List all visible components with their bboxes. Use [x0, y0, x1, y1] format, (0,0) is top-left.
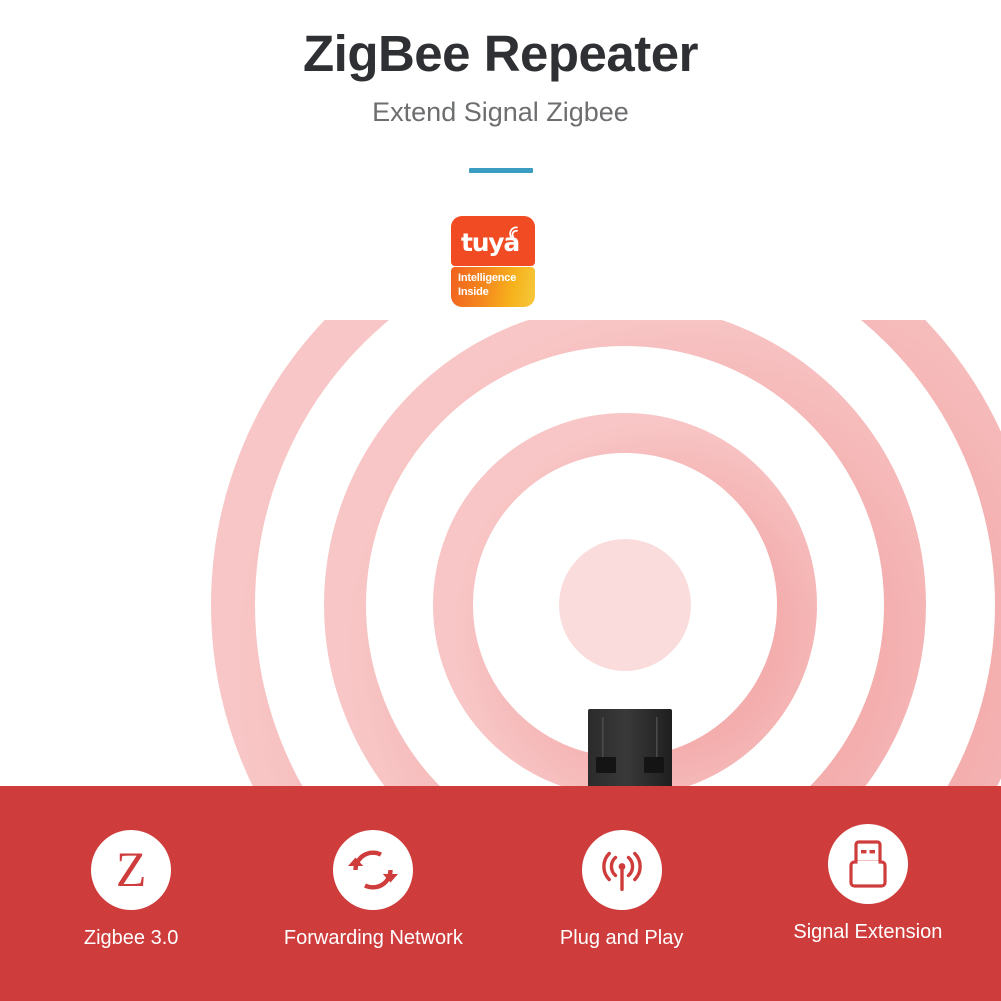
- divider-wrapper: [0, 160, 1001, 166]
- tuya-tagline-block: Intelligence Inside: [451, 267, 535, 307]
- feature-label-signal-extension: Signal Extension: [743, 920, 993, 944]
- feature-item-plug-and-play[interactable]: Plug and Play: [497, 830, 747, 950]
- zigbee-repeater-dongle-upright: [548, 705, 708, 790]
- zigbee-z-glyph: Z: [116, 844, 147, 894]
- sync-arrows-icon-wrapper: [333, 830, 413, 910]
- feature-item-forwarding-network[interactable]: Forwarding Network: [248, 830, 498, 950]
- feature-label-forwarding-network: Forwarding Network: [248, 926, 498, 950]
- usb-dongle-icon: [844, 839, 892, 889]
- feature-label-zigbee-30: Zigbee 3.0: [6, 926, 256, 950]
- feature-item-signal-extension[interactable]: Signal Extension: [743, 824, 993, 944]
- sync-arrows-icon: [347, 844, 399, 896]
- tuya-wordmark-block: tuya: [451, 216, 535, 266]
- antenna-broadcast-icon-wrapper: [582, 830, 662, 910]
- feature-item-zigbee-30[interactable]: Z Zigbee 3.0: [6, 830, 256, 950]
- tuya-tagline-line-2: Inside: [458, 285, 535, 299]
- feature-list: Z Zigbee 3.0 Forwarding Network: [0, 786, 1001, 1001]
- page-subtitle: Extend Signal Zigbee: [0, 82, 1001, 128]
- signal-waves-graphic: [0, 320, 1001, 790]
- accent-divider: [469, 168, 533, 173]
- tuya-brand-badge: tuya Intelligence Inside: [451, 216, 535, 307]
- wifi-arc-icon: [509, 225, 524, 240]
- tuya-tagline-line-1: Intelligence: [458, 271, 535, 285]
- zigbee-z-icon: Z: [91, 830, 171, 910]
- feature-bar: Z Zigbee 3.0 Forwarding Network: [0, 786, 1001, 1001]
- product-hero-scene: [0, 320, 1001, 790]
- product-banner: ZigBee Repeater Extend Signal Zigbee tuy…: [0, 0, 1001, 1001]
- page-title: ZigBee Repeater: [0, 0, 1001, 82]
- antenna-broadcast-icon: [597, 845, 647, 895]
- usb-dongle-icon-wrapper: [828, 824, 908, 904]
- banner-header: ZigBee Repeater Extend Signal Zigbee: [0, 0, 1001, 166]
- feature-label-plug-and-play: Plug and Play: [497, 926, 747, 950]
